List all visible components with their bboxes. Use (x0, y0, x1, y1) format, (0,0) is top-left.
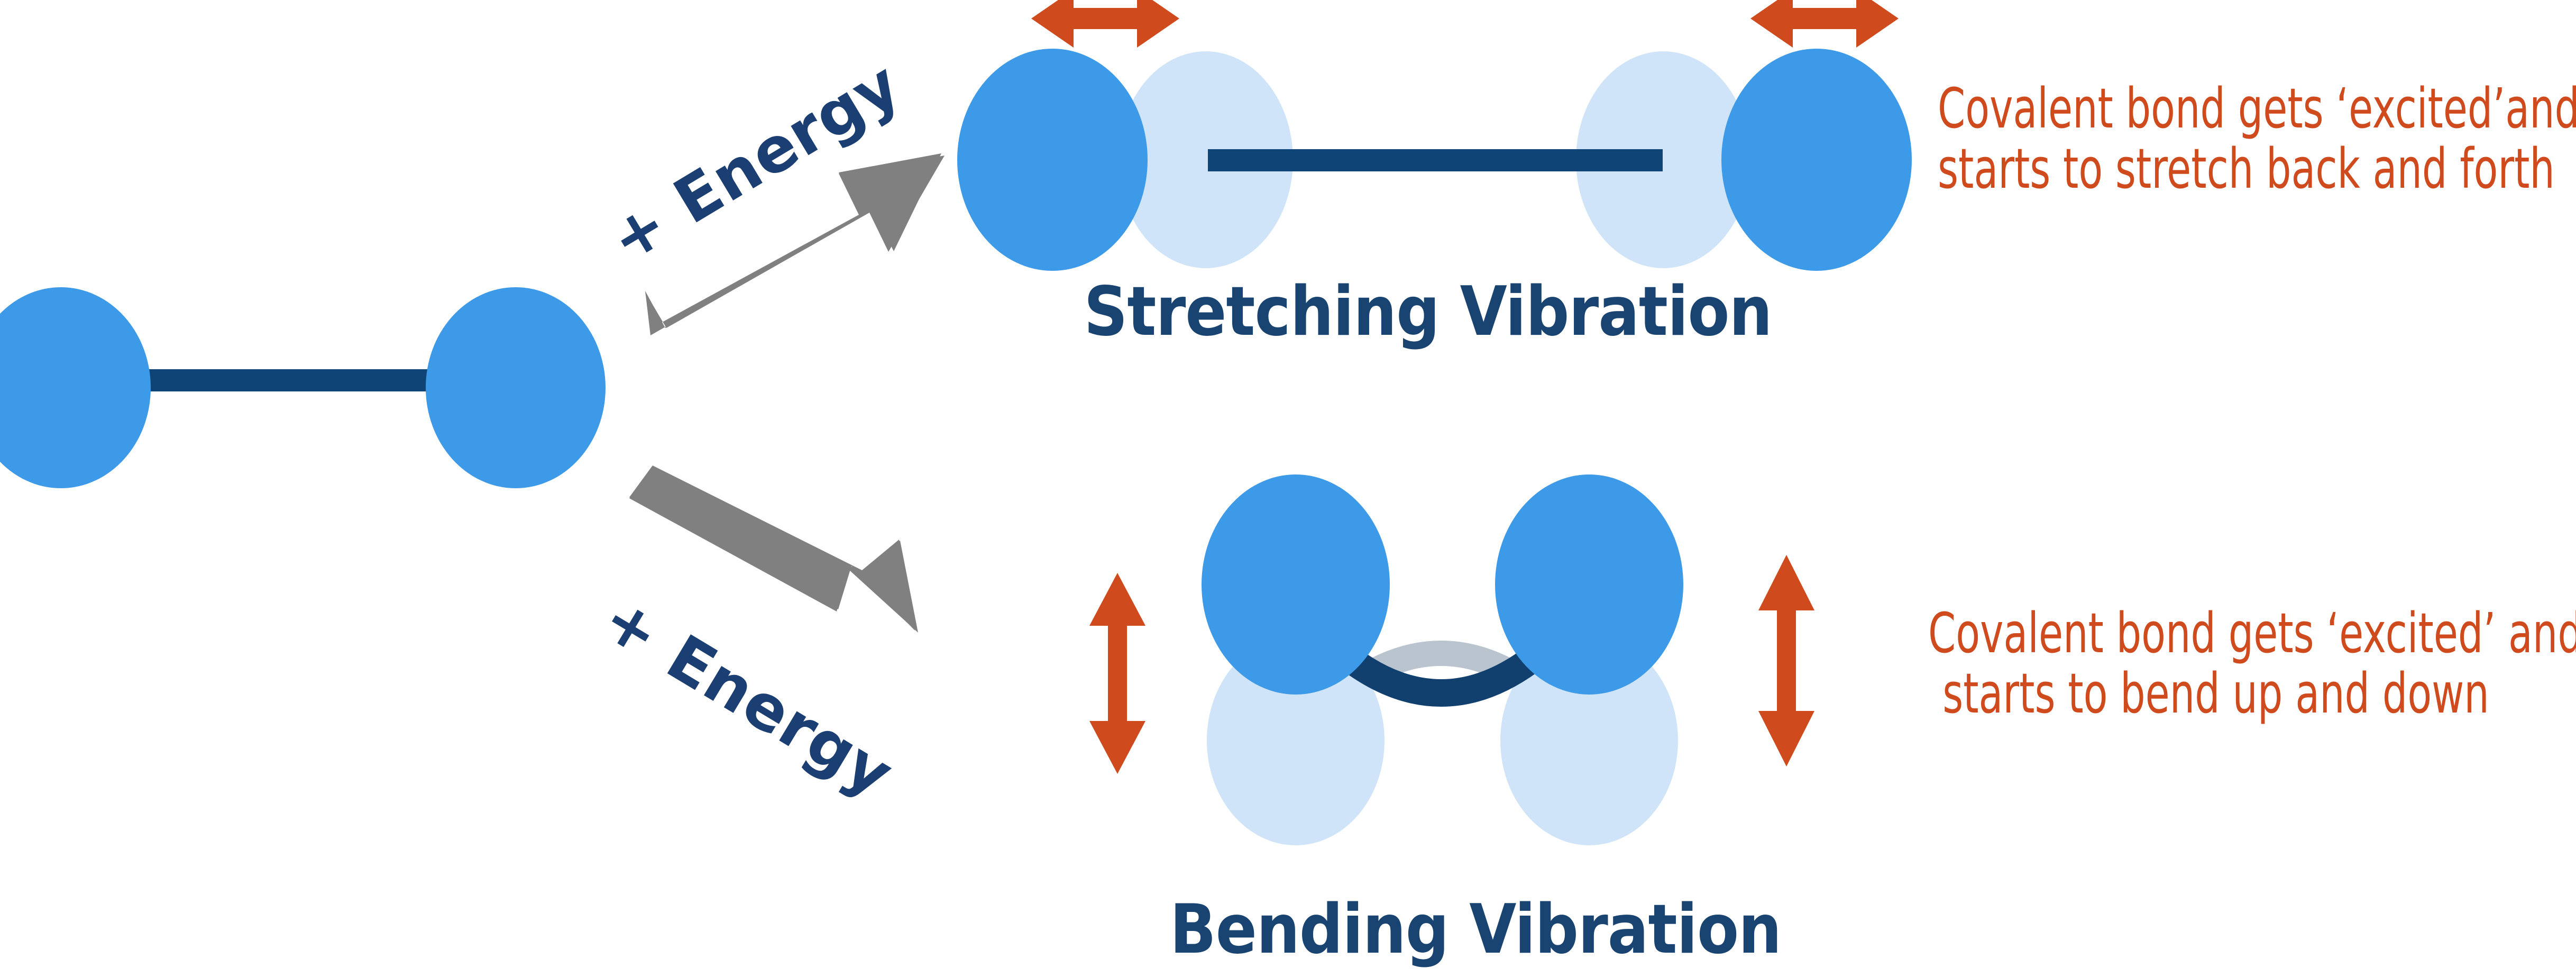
bending-annotation-line-1: Covalent bond gets ‘excited’ and (1928, 603, 2504, 663)
bending-motion-arrow-right (1752, 552, 1821, 769)
stretching-annotation: Covalent bond gets ‘excited’and starts t… (1938, 78, 2505, 199)
ground-state-molecule (0, 275, 635, 503)
atom-right-bending (1495, 474, 1683, 695)
atom-right-stretching (1721, 49, 1912, 271)
bending-annotation-line-2: starts to bend up and down (1928, 663, 2504, 724)
bending-annotation: Covalent bond gets ‘excited’ and starts … (1928, 603, 2504, 724)
bending-molecule (1137, 465, 1745, 868)
stretching-vibration-label: Stretching Vibration (1037, 272, 1819, 351)
covalent-bond-stretching (1208, 149, 1663, 171)
double-headed-arrow-vertical (1758, 555, 1814, 766)
double-headed-arrow-horizontal (1750, 0, 1899, 48)
stretching-molecule (952, 48, 1904, 270)
double-headed-arrow-horizontal (1031, 0, 1179, 48)
atom-left-stretching (957, 49, 1148, 271)
atom-left-bending (1202, 474, 1390, 695)
stretching-annotation-line-1: Covalent bond gets ‘excited’and (1938, 78, 2505, 139)
atom-right-ground-state (426, 287, 606, 488)
atom-left-ground-state (0, 287, 151, 488)
stretching-annotation-line-2: starts to stretch back and forth (1938, 139, 2505, 199)
diagram-canvas: + Energy + Energy Stretching Vibratio (0, 0, 2576, 977)
bending-vibration-label: Bending Vibration (1126, 890, 1825, 969)
arrow-gray-down-shape-fill (629, 467, 918, 633)
